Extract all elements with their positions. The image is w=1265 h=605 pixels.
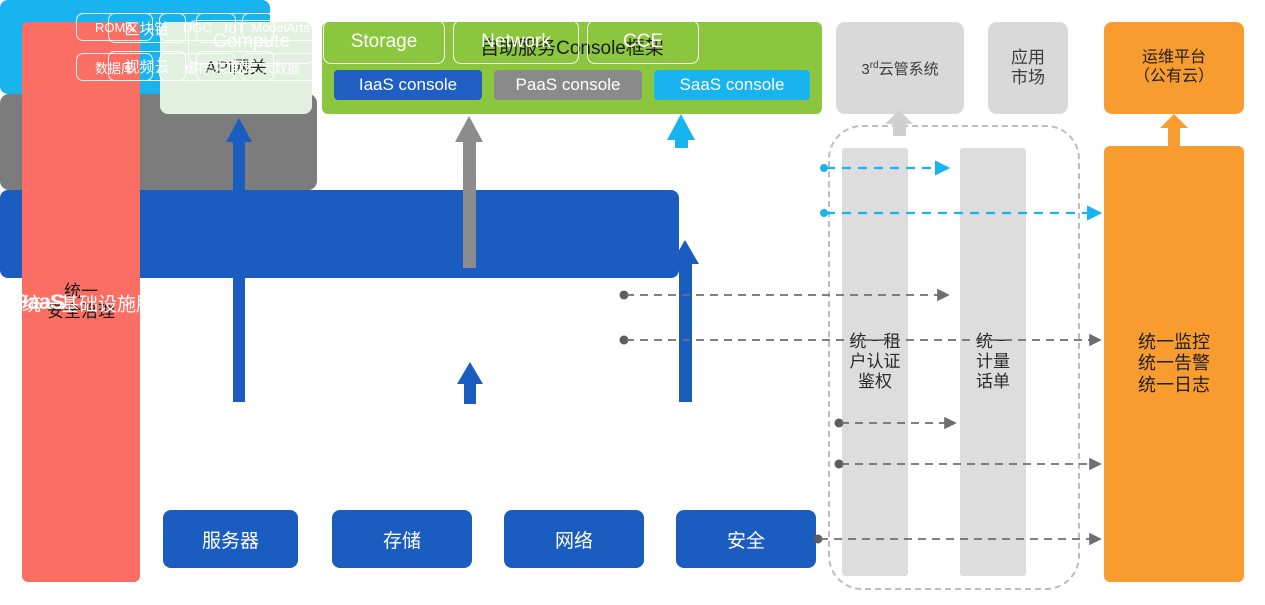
unified-tenant-auth-column: 统一租 户认证 鉴权 [842, 148, 908, 576]
paas-chip-roma[interactable]: ROMA [76, 13, 153, 41]
resource-box-storage: 存储 [332, 510, 472, 568]
infra-chip-cce[interactable]: CCE [587, 20, 699, 64]
resource-box-security: 安全 [676, 510, 816, 568]
arrow-ops-main-to-top [1160, 114, 1188, 148]
ops-monitor-alarm-log-panel: 统一监控 统一告警 统一日志 [1104, 146, 1244, 582]
infra-chip-network[interactable]: Network [453, 20, 579, 64]
infra-chip-compute[interactable]: Compute [188, 20, 315, 64]
resource-box-network: 网络 [504, 510, 644, 568]
iaas-console-chip[interactable]: IaaS console [334, 70, 482, 100]
infra-chip-storage[interactable]: Storage [323, 20, 445, 64]
ops-platform-public-cloud-box: 运维平台 （公有云） [1104, 22, 1244, 114]
unified-infrastructure-label: 统一基础设施服务 [22, 289, 174, 316]
third-party-label: 3rd云管系统 [861, 58, 938, 79]
unified-metering-column: 统一 计量 话单 [960, 148, 1026, 576]
paas-chip-database[interactable]: 数据库 [76, 53, 153, 81]
saas-console-chip[interactable]: SaaS console [654, 70, 810, 100]
app-market-box: 应用 市场 [988, 22, 1068, 114]
paas-console-chip[interactable]: PaaS console [494, 70, 642, 100]
resource-box-server: 服务器 [163, 510, 298, 568]
third-party-cloud-mgmt-box: 3rd云管系统 [836, 22, 964, 114]
arrow-infra-to-paas [457, 362, 483, 404]
arrow-saas-to-console [667, 114, 695, 148]
architecture-diagram: 统一 安全治理 API网关 自助服务Console框架 IaaS console… [0, 0, 1265, 605]
